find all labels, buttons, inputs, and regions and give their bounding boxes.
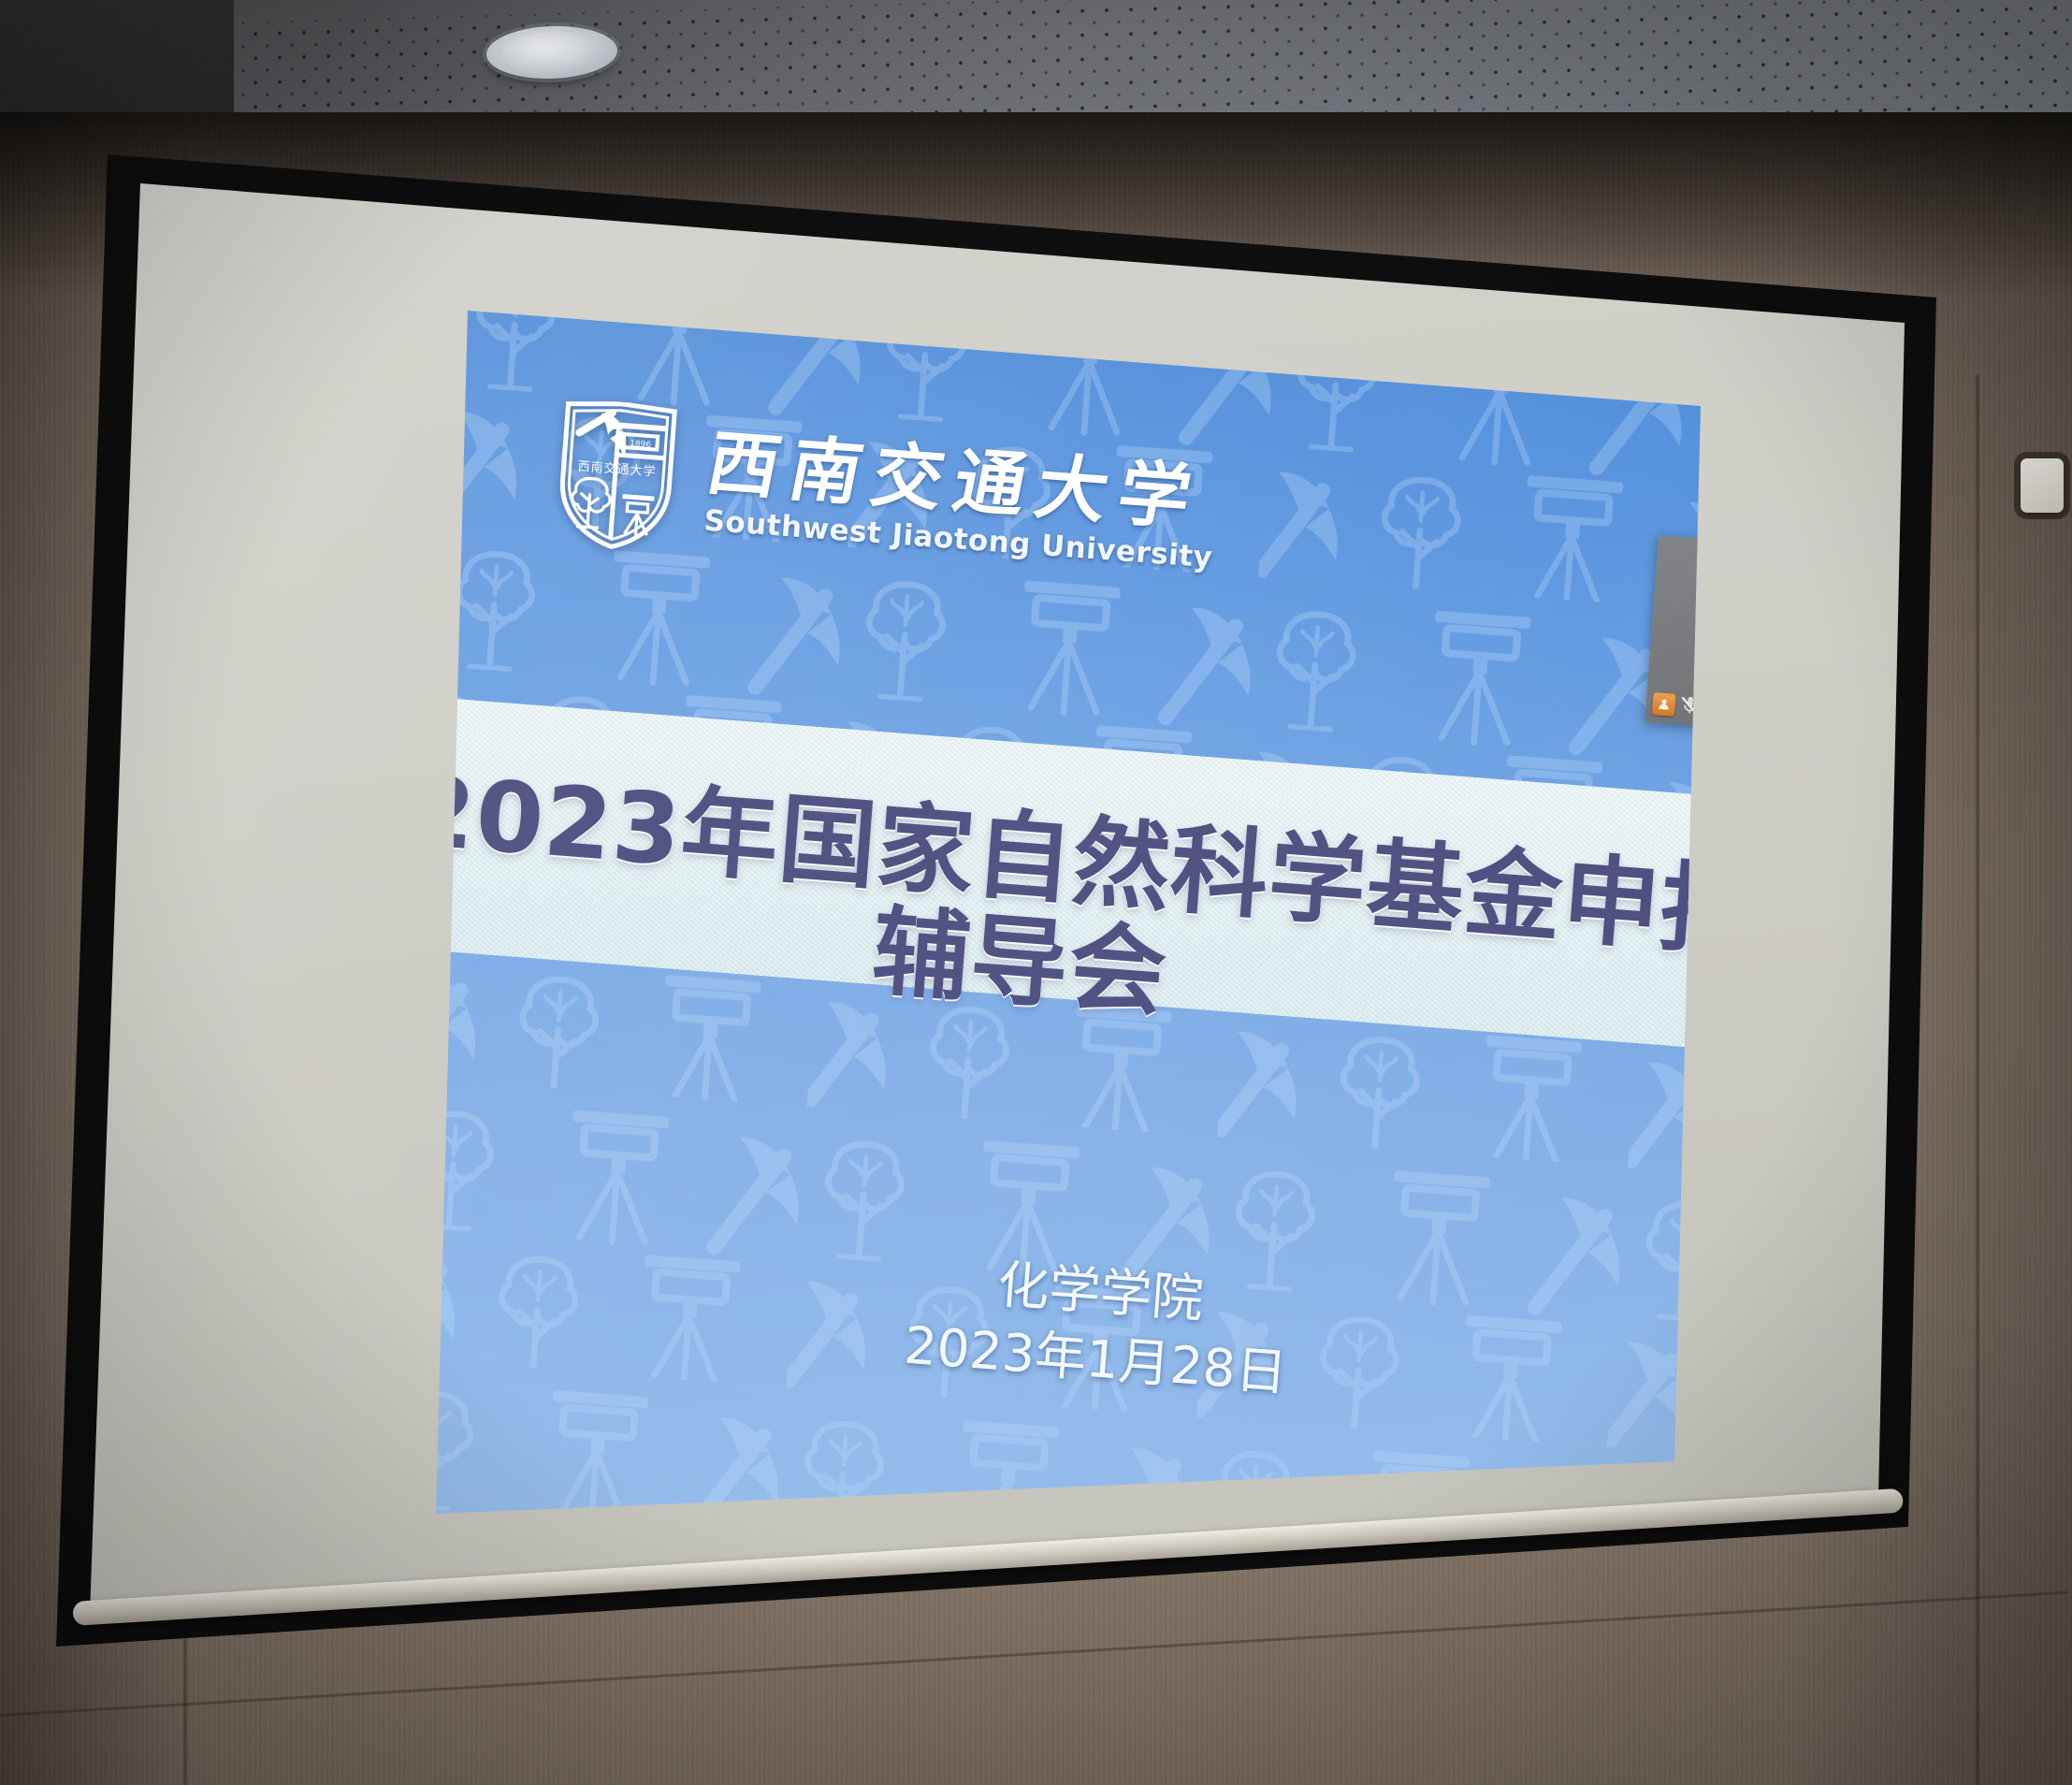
screenshot-root: 1896 西南交通大学 西南交通大学 (0, 0, 2072, 1785)
projection-screen: 1896 西南交通大学 西南交通大学 (0, 0, 2072, 1785)
